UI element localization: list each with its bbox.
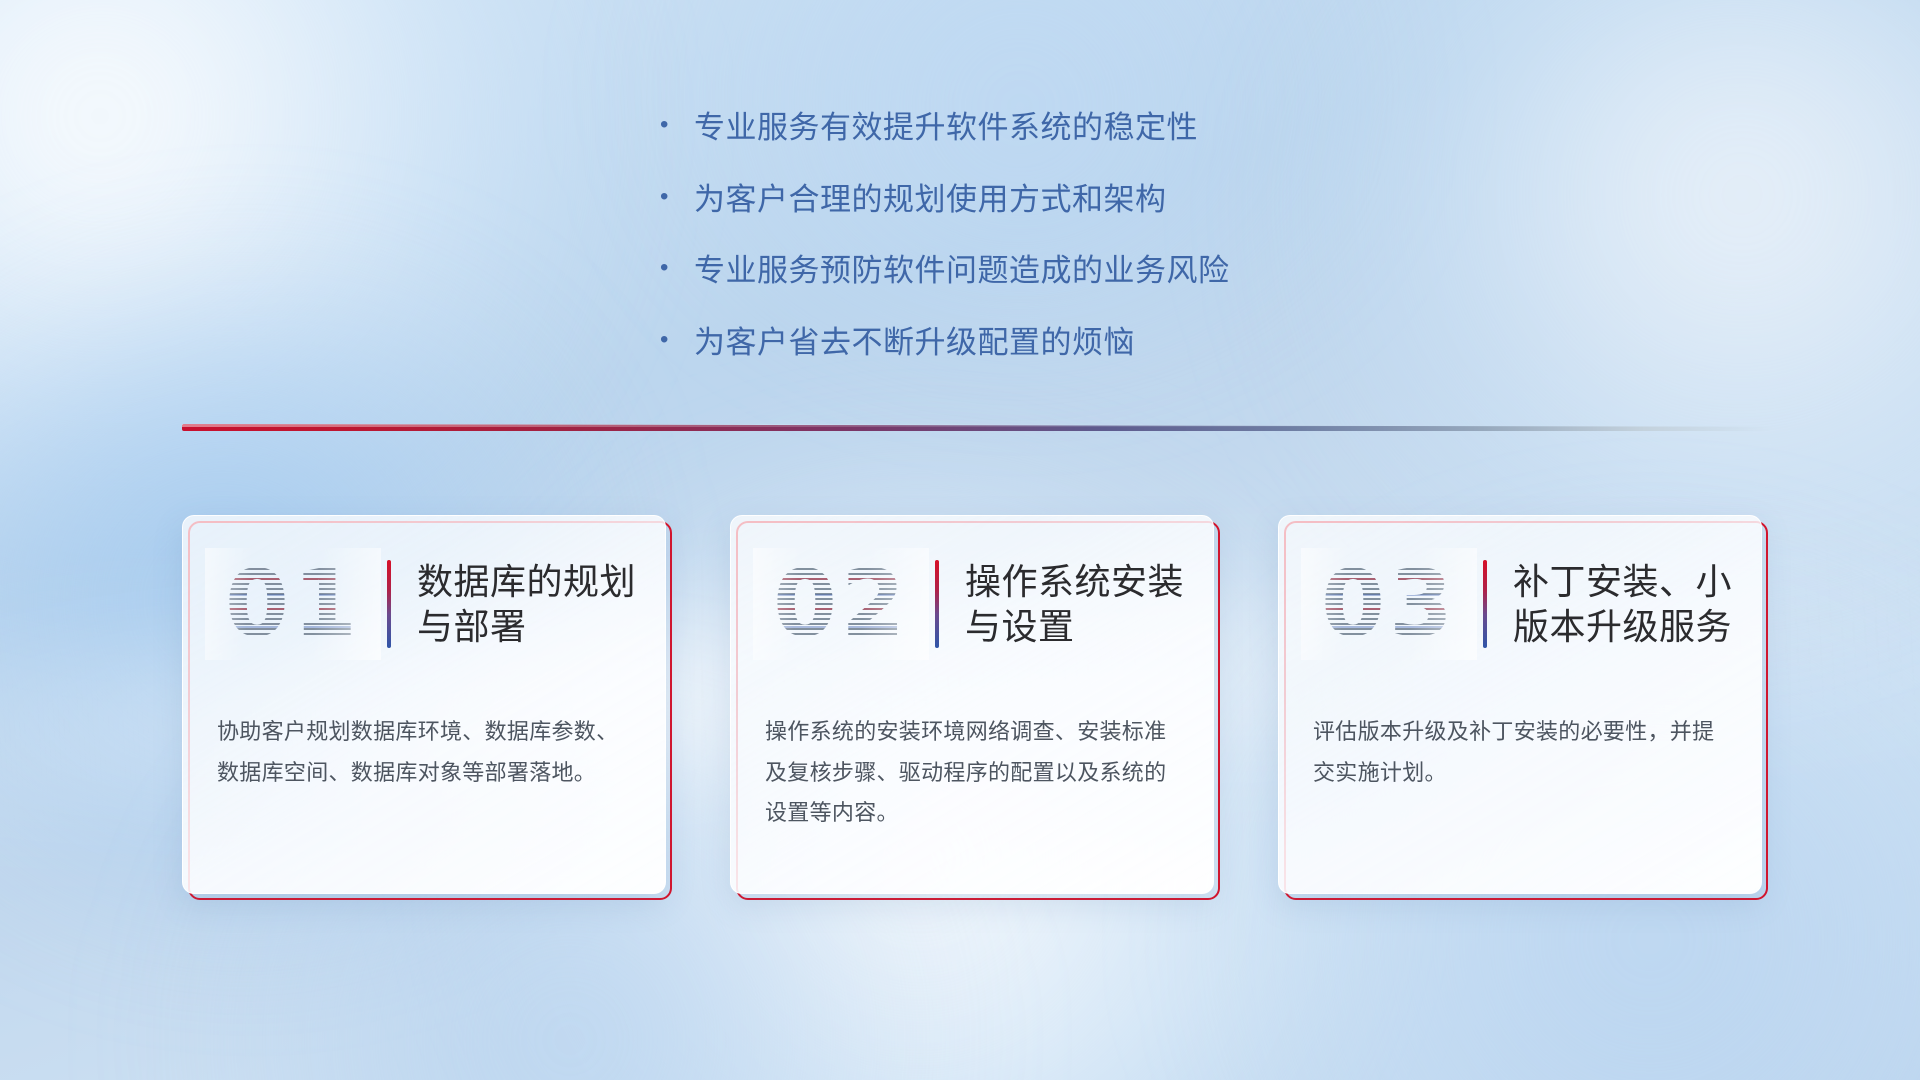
card-row: 01 01 数据库的规划与部署 协助客户规划数据库环境、数据库参数、数据库空间、…	[182, 515, 1768, 900]
bullet-text: 专业服务有效提升软件系统的稳定性	[694, 108, 1420, 148]
card-number-graphic: 03 03	[1309, 548, 1469, 660]
card-header: 02 02 操作系统安装与设置	[731, 516, 1213, 692]
bullet-list: • 专业服务有效提升软件系统的稳定性 • 为客户合理的规划使用方式和架构 • 专…	[660, 108, 1420, 363]
card-number-color-overlay: 01	[213, 548, 373, 660]
card-title: 补丁安装、小版本升级服务	[1513, 559, 1761, 650]
bullet-text: 为客户合理的规划使用方式和架构	[694, 180, 1420, 220]
card-header: 03 03 补丁安装、小版本升级服务	[1279, 516, 1761, 692]
feature-card[interactable]: 03 03 补丁安装、小版本升级服务 评估版本升级及补丁安装的必要性，并提交实施…	[1278, 515, 1768, 900]
bullet-item: • 为客户合理的规划使用方式和架构	[660, 180, 1420, 220]
card-surface: 03 03 补丁安装、小版本升级服务 评估版本升级及补丁安装的必要性，并提交实施…	[1278, 515, 1762, 894]
card-body-text: 评估版本升级及补丁安装的必要性，并提交实施计划。	[1313, 712, 1731, 793]
card-surface: 02 02 操作系统安装与设置 操作系统的安装环境网络调查、安装标准及复核步骤、…	[730, 515, 1214, 894]
bullet-text: 为客户省去不断升级配置的烦恼	[694, 323, 1420, 363]
feature-card[interactable]: 01 01 数据库的规划与部署 协助客户规划数据库环境、数据库参数、数据库空间、…	[182, 515, 672, 900]
card-body-text: 操作系统的安装环境网络调查、安装标准及复核步骤、驱动程序的配置以及系统的设置等内…	[765, 712, 1183, 834]
bullet-item: • 专业服务有效提升软件系统的稳定性	[660, 108, 1420, 148]
bullet-dot-icon: •	[660, 323, 694, 358]
bullet-dot-icon: •	[660, 251, 694, 286]
section-divider	[182, 424, 1772, 431]
card-number-graphic: 01 01	[213, 548, 373, 660]
card-title-accent-bar	[935, 560, 939, 648]
card-body-text: 协助客户规划数据库环境、数据库参数、数据库空间、数据库对象等部署落地。	[217, 712, 635, 793]
card-title: 数据库的规划与部署	[417, 559, 665, 650]
bullet-item: • 为客户省去不断升级配置的烦恼	[660, 323, 1420, 363]
divider-highlight	[182, 424, 1772, 427]
card-title-accent-bar	[1483, 560, 1487, 648]
card-number-color-overlay: 02	[761, 548, 921, 660]
feature-card[interactable]: 02 02 操作系统安装与设置 操作系统的安装环境网络调查、安装标准及复核步骤、…	[730, 515, 1220, 900]
card-title: 操作系统安装与设置	[965, 559, 1213, 650]
card-surface: 01 01 数据库的规划与部署 协助客户规划数据库环境、数据库参数、数据库空间、…	[182, 515, 666, 894]
bullet-dot-icon: •	[660, 108, 694, 143]
card-number-color-overlay: 03	[1309, 548, 1469, 660]
card-title-accent-bar	[387, 560, 391, 648]
card-header: 01 01 数据库的规划与部署	[183, 516, 665, 692]
card-number-graphic: 02 02	[761, 548, 921, 660]
bullet-text: 专业服务预防软件问题造成的业务风险	[694, 251, 1420, 291]
bullet-dot-icon: •	[660, 180, 694, 215]
bullet-item: • 专业服务预防软件问题造成的业务风险	[660, 251, 1420, 291]
